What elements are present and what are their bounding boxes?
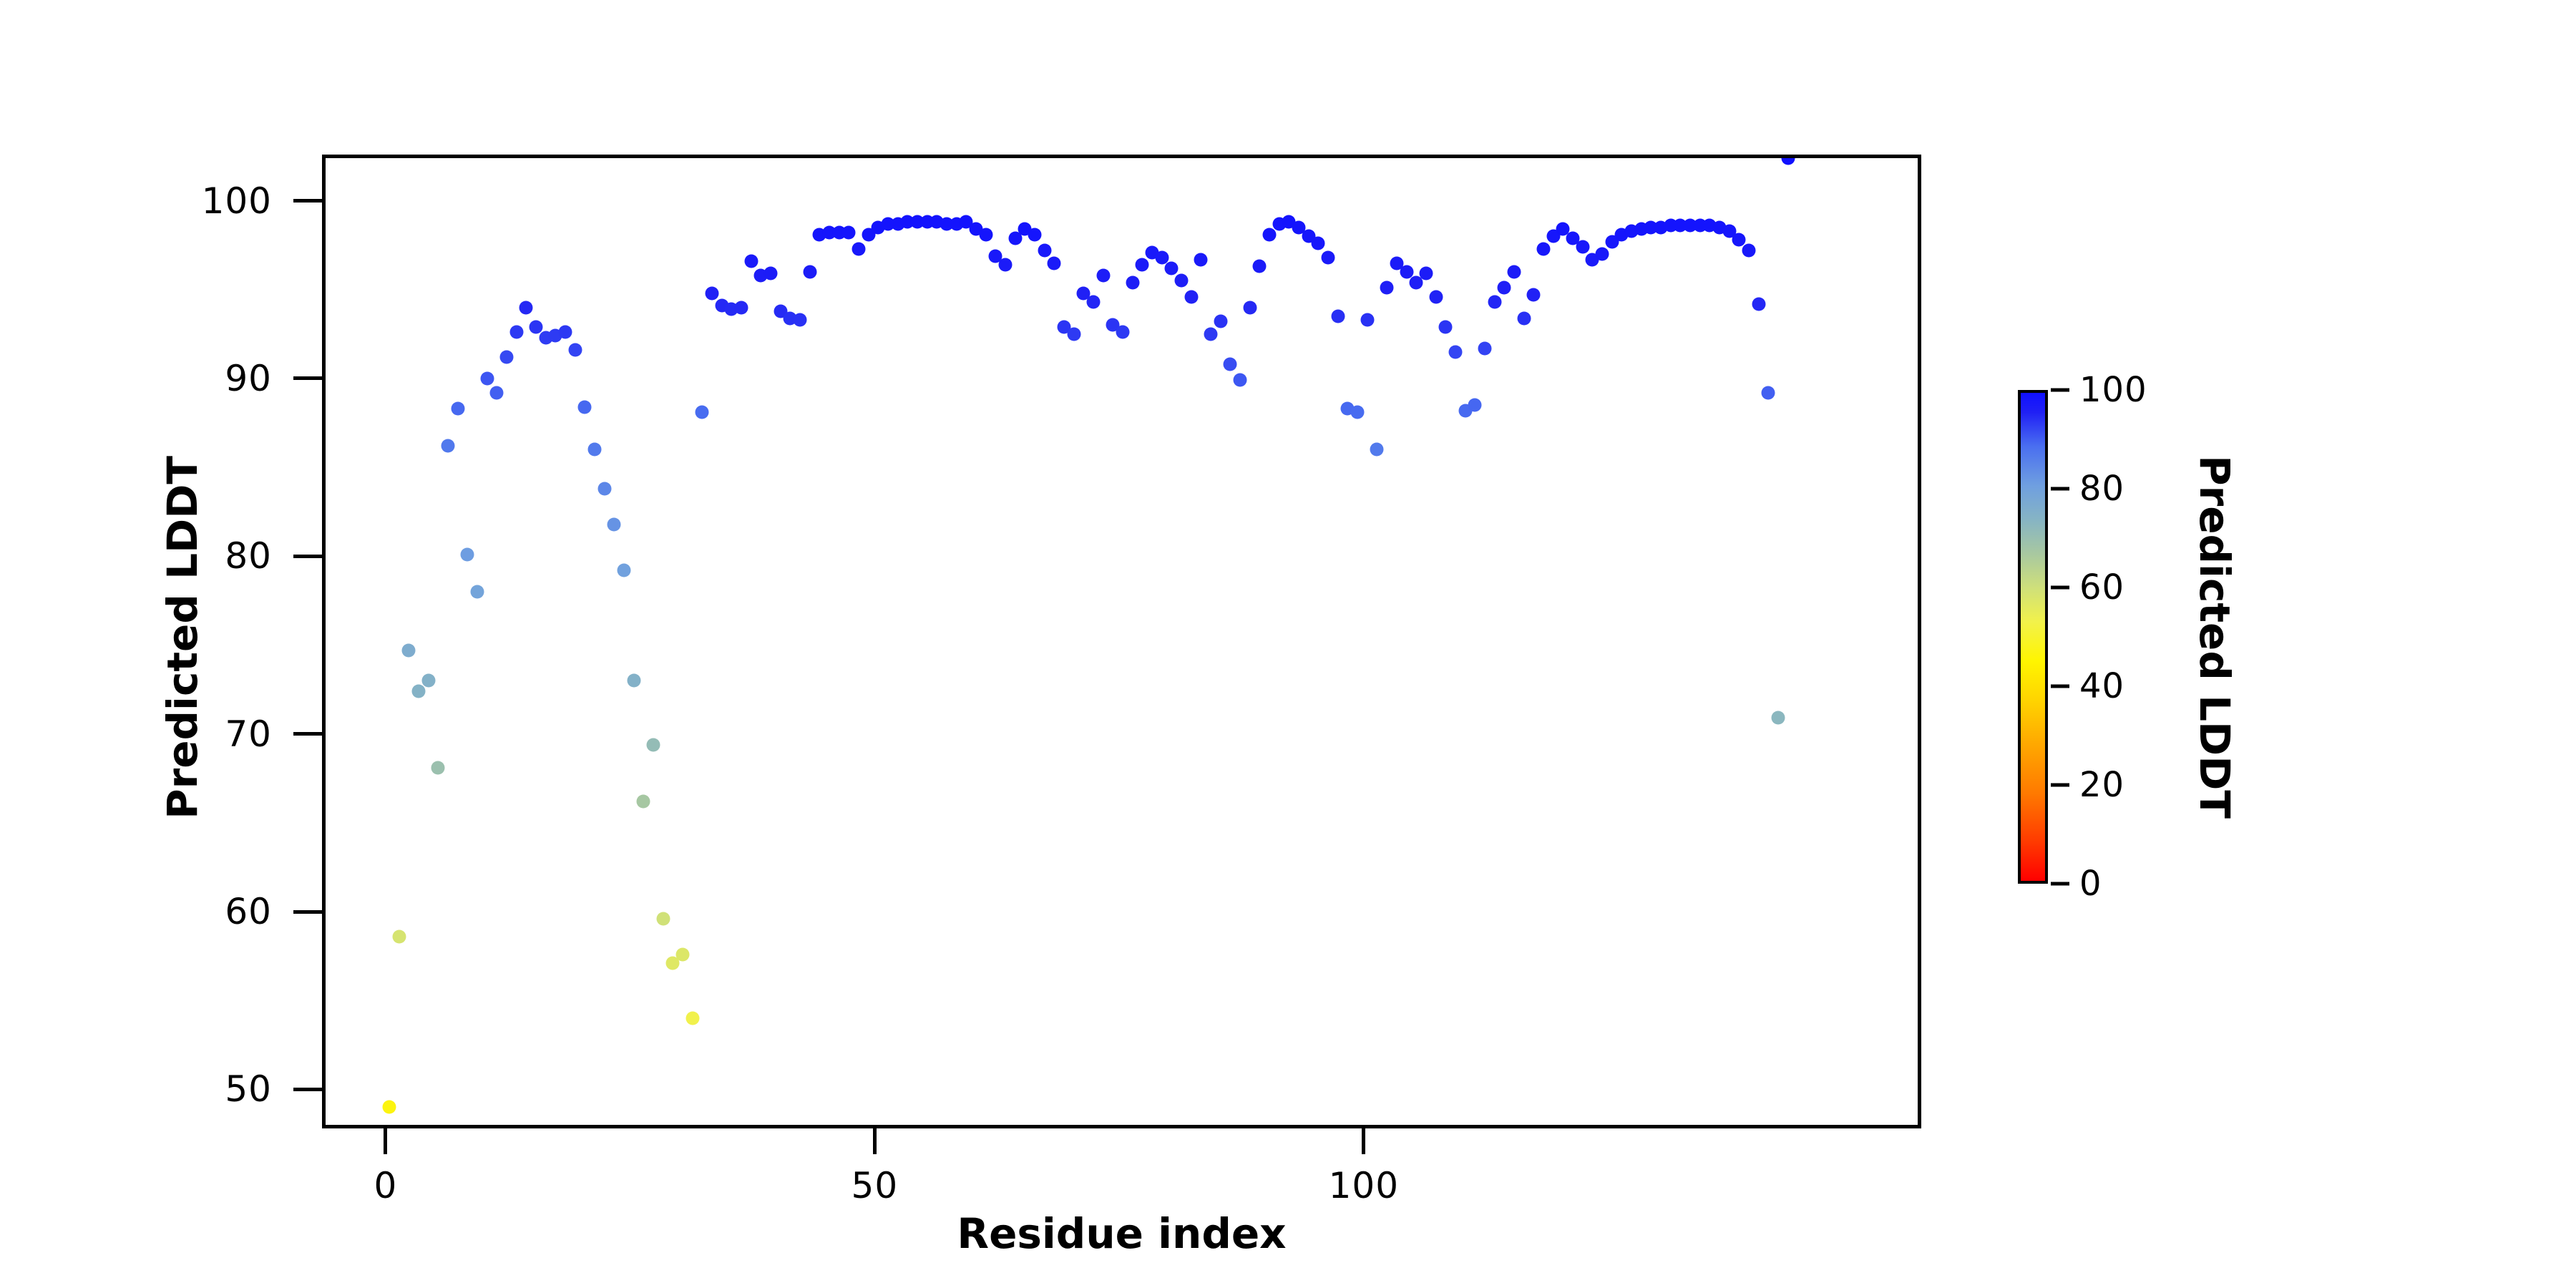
x-axis-tick-label: 100 [1257,1165,1471,1206]
y-axis-tick [293,732,322,736]
data-point [1536,242,1550,255]
colorbar-tick-label: 60 [2079,567,2124,608]
data-point [1204,327,1218,341]
y-axis-tick [293,555,322,558]
data-point [578,400,592,414]
data-point [1184,290,1198,303]
data-point [402,643,416,657]
data-point [1380,281,1394,295]
data-point [1527,288,1541,302]
colorbar-tick-label: 40 [2079,666,2124,706]
colorbar-tick-label: 20 [2079,765,2124,805]
x-axis-tick-label: 0 [278,1165,493,1206]
data-point [696,406,709,419]
data-point [1576,240,1589,254]
data-point [1214,315,1227,328]
figure-canvas: 5060708090100 Predicted LDDT 050100 Resi… [0,0,2576,1288]
colorbar-tick-label: 100 [2079,370,2147,410]
data-point [1351,406,1365,419]
data-point [1331,310,1345,323]
colorbar-title: Predicted LDDT [2190,455,2239,819]
data-point [509,326,523,339]
data-point [470,585,484,598]
data-point [686,1012,699,1025]
colorbar-tick [2051,882,2069,886]
data-point [1126,275,1139,289]
y-axis-tick [293,910,322,914]
y-axis-tick [293,199,322,203]
data-point [1429,290,1443,303]
y-axis-tick [293,1088,322,1091]
y-axis-tick [293,376,322,380]
data-point [852,242,866,255]
data-point [1312,237,1325,250]
data-point [1028,228,1042,241]
y-axis-tick-label: 50 [86,1068,272,1110]
data-point [1322,251,1335,265]
data-point [1448,345,1462,358]
data-point [1370,443,1384,457]
data-point [979,228,992,241]
data-point [441,439,454,453]
data-point [1136,258,1149,272]
data-point [1742,244,1755,258]
colorbar-tick [2051,389,2069,392]
data-point [451,402,464,416]
data-point [1771,711,1785,725]
data-point [1468,399,1482,412]
data-point [1752,297,1765,311]
data-point [1194,253,1208,266]
y-axis-label-wrap: Predicted LDDT [125,155,132,1128]
data-point [1067,327,1080,341]
data-point [1517,311,1531,325]
data-point [1419,267,1433,280]
data-point [1038,244,1051,258]
data-point [480,371,494,385]
data-point [1263,228,1277,241]
data-point [392,930,406,943]
data-point [1781,158,1795,165]
data-point [461,547,474,561]
data-point [1488,296,1501,309]
colorbar-gradient [2018,390,2048,884]
data-point [734,301,748,314]
data-point [803,265,816,278]
x-axis-tick [1362,1128,1365,1154]
data-point [1243,301,1257,314]
data-point [1116,326,1130,339]
data-point [1224,358,1237,371]
data-point [1360,313,1374,327]
data-point [421,674,435,688]
data-point [1253,260,1267,273]
colorbar-tick [2051,685,2069,688]
plot-axes [322,155,1921,1128]
colorbar-tick [2051,487,2069,491]
data-point [842,226,856,240]
x-axis-tick [873,1128,877,1154]
colorbar-tick [2051,586,2069,590]
data-point [999,258,1013,272]
colorbar-tick-label: 0 [2079,864,2102,904]
data-point [617,564,630,577]
data-point [763,267,777,280]
data-point [1175,274,1189,288]
data-point [1048,256,1061,270]
data-point [1498,281,1511,295]
colorbar-tick [2051,784,2069,787]
data-point [382,1101,396,1114]
data-point [656,912,670,925]
colorbar-tick-label: 80 [2079,469,2124,509]
x-axis-label: Residue index [322,1209,1921,1258]
scatter-plot-area[interactable] [326,158,1918,1125]
data-point [675,947,689,961]
data-point [431,761,445,774]
x-axis-tick-label: 50 [767,1165,982,1206]
data-point [793,313,806,327]
data-point [490,386,504,399]
colorbar-group: 020406080100 Predicted LDDT [2018,390,2048,884]
data-point [597,482,611,495]
data-point [1478,341,1491,355]
data-point [744,255,758,268]
data-point [499,351,513,364]
y-axis-tick-label: 100 [86,180,272,222]
data-point [1096,268,1110,282]
data-point [608,517,621,531]
data-point [1507,265,1521,278]
data-point [519,301,533,314]
data-point [1234,374,1247,387]
x-axis-tick [384,1128,387,1154]
data-point [627,674,640,688]
data-point [587,443,601,457]
data-point [1087,296,1101,309]
data-point [1165,261,1179,275]
data-point [568,343,582,357]
data-point [705,286,718,300]
y-axis-label: Predicted LDDT [158,280,207,995]
data-point [558,326,572,339]
data-point [646,738,660,751]
data-point [637,795,650,809]
data-point [1762,386,1775,399]
data-point [1595,248,1609,261]
data-point [411,685,425,698]
data-point [1439,320,1453,333]
